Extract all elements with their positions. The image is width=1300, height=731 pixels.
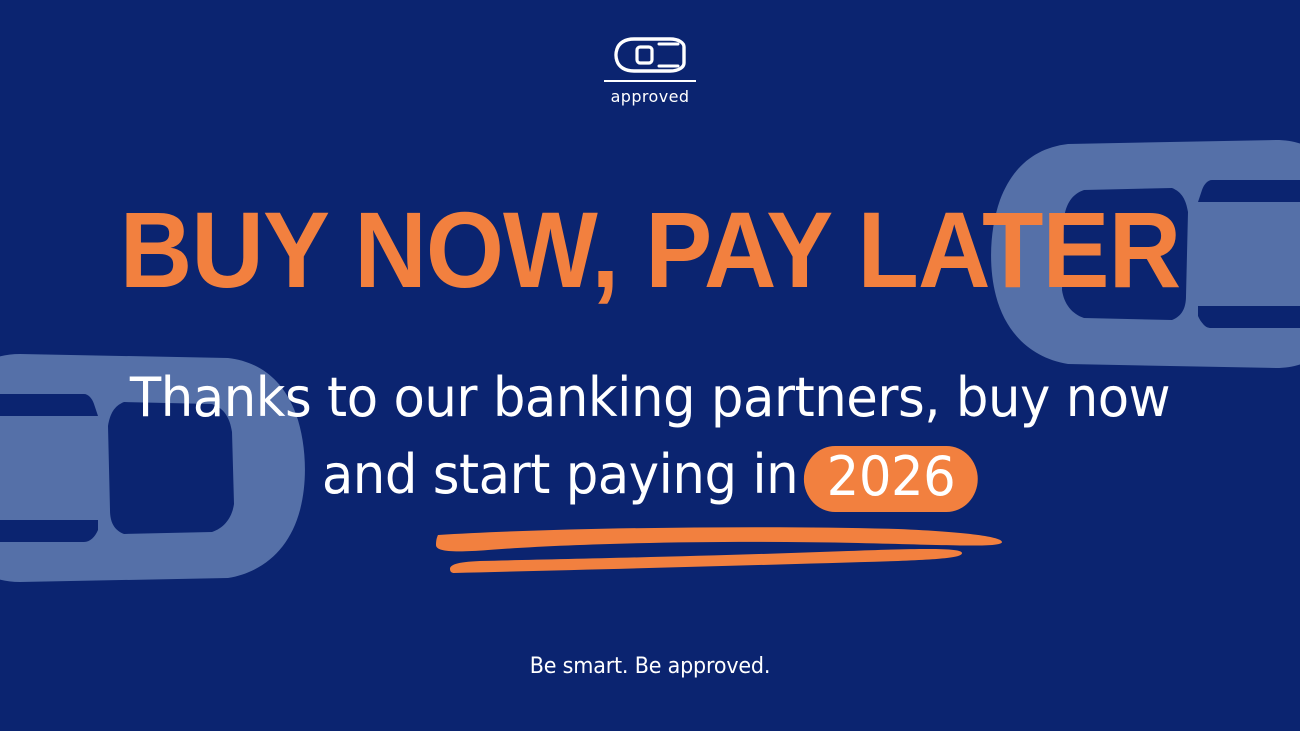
brand-wordmark: approved <box>611 87 690 106</box>
scribble-underline-icon <box>428 513 1008 581</box>
page-title: BUY NOW, PAY LATER <box>46 196 1255 304</box>
subheading-line-2: and start paying in2026 <box>33 437 1268 514</box>
promotional-banner: approved BUY NOW, PAY LATER Thanks to ou… <box>0 0 1300 731</box>
tagline: Be smart. Be approved. <box>39 654 1261 679</box>
brand-logo-divider <box>604 80 696 82</box>
subheading-line-1: Thanks to our banking partners, buy now <box>33 360 1268 437</box>
subheading: Thanks to our banking partners, buy now … <box>33 360 1268 513</box>
brand-logo: approved <box>0 36 1300 106</box>
car-top-view-icon <box>614 36 686 74</box>
subheading-line-2-prefix: and start paying in <box>322 443 798 506</box>
highlight-year-badge: 2026 <box>804 446 978 512</box>
